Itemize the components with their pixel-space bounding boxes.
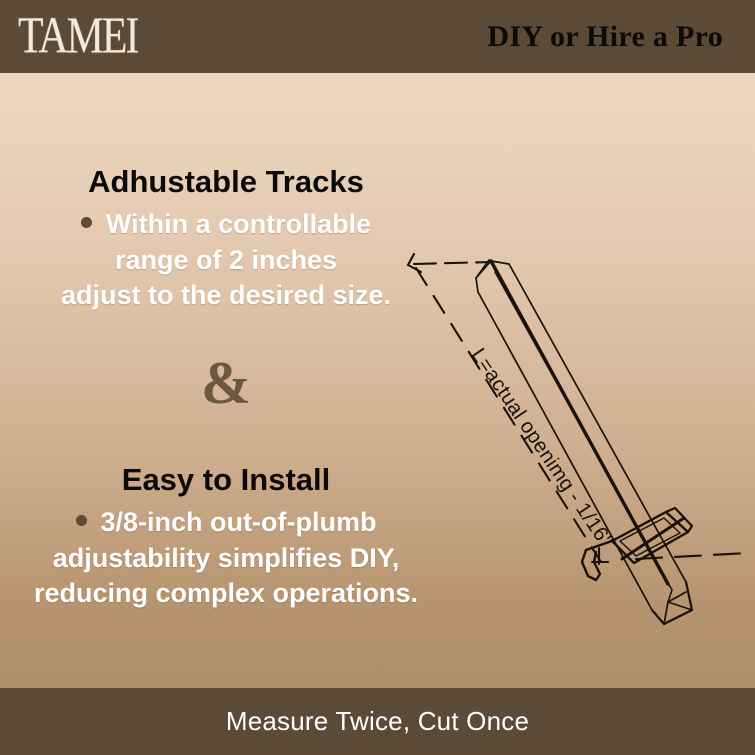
track-diagram-svg: L=actual openimg - 1/16" xyxy=(396,232,748,632)
feature-block-easy-to-install: Easy to Install 3/8-inch out-of-plumb ad… xyxy=(0,463,452,612)
brand-logo[interactable]: TAMEI xyxy=(18,10,137,62)
bullet-line-text: adjustability simplifies DIY, xyxy=(12,541,440,577)
track-dimension-diagram: L=actual openimg - 1/16" xyxy=(396,232,748,632)
feature-bullet-adjustable-tracks: Within a controllable range of 2 inches … xyxy=(0,207,452,314)
bullet-line: Within a controllable xyxy=(12,207,440,243)
bullet-line-text: 3/8-inch out-of-plumb xyxy=(101,507,377,537)
bullet-line-text: reducing complex operations. xyxy=(12,576,440,612)
bullet-line-text: Within a controllable xyxy=(106,209,371,239)
footer-tagline: Measure Twice, Cut Once xyxy=(226,706,529,737)
poster-canvas: TAMEI DIY or Hire a Pro Adhustable Track… xyxy=(0,0,755,755)
feature-bullet-easy-to-install: 3/8-inch out-of-plumb adjustability simp… xyxy=(0,505,452,612)
feature-heading-easy-to-install: Easy to Install xyxy=(0,463,452,497)
copy-column: Adhustable Tracks Within a controllable … xyxy=(0,73,452,688)
feature-heading-adjustable-tracks: Adhustable Tracks xyxy=(0,165,452,199)
track-end-cap xyxy=(652,582,692,624)
bullet-dot-icon xyxy=(81,217,92,228)
bullet-line-text: adjust to the desired size. xyxy=(12,278,440,314)
header-title: DIY or Hire a Pro xyxy=(487,20,733,54)
header-bar: TAMEI DIY or Hire a Pro xyxy=(0,0,755,73)
bullet-line: 3/8-inch out-of-plumb xyxy=(12,505,440,541)
footer-bar: Measure Twice, Cut Once xyxy=(0,688,755,755)
track-rail-body xyxy=(476,260,686,610)
feature-block-adjustable-tracks: Adhustable Tracks Within a controllable … xyxy=(0,165,452,314)
bullet-dot-icon xyxy=(76,515,87,526)
ampersand-separator: & xyxy=(0,353,452,413)
bullet-line-text: range of 2 inches xyxy=(12,243,440,279)
